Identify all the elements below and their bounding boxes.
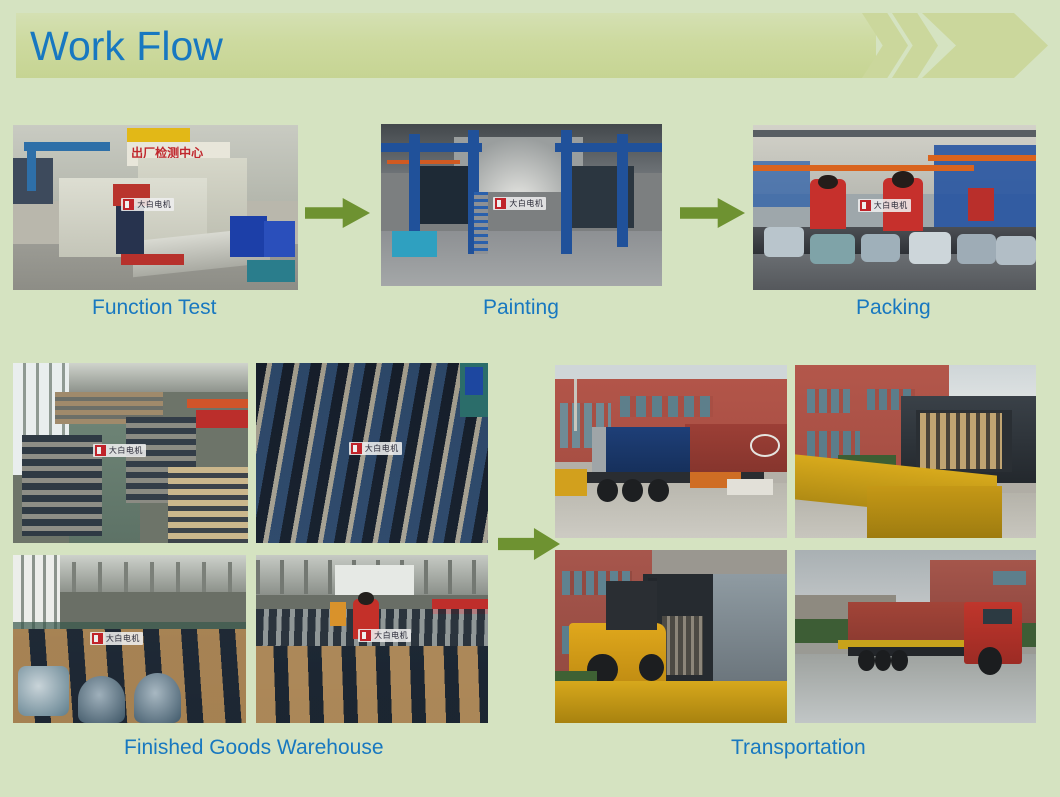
- photo-region-worker-head: [818, 175, 838, 190]
- photo-region-packed-motor: [810, 234, 855, 264]
- photo-motors-closeup: 大白电机: [256, 363, 488, 543]
- photo-region-sky: [555, 365, 787, 379]
- photo-region-wheel: [597, 479, 618, 501]
- photo-region-motor-lot: [168, 467, 248, 543]
- photo-region-ladder: [474, 192, 488, 254]
- watermark-text: 大白电机: [365, 443, 399, 454]
- photo-container-truck: [555, 365, 787, 538]
- header-chevron-group: [862, 13, 1048, 78]
- photo-painting: 大白电机: [381, 124, 662, 286]
- watermark-logo-icon: [351, 443, 362, 454]
- photo-region-column: [617, 134, 628, 247]
- photo-region-wheel: [858, 650, 875, 671]
- photo-region-post: [27, 142, 36, 192]
- photo-region-packed-motor: [957, 234, 997, 264]
- photo-region-wheel: [622, 479, 643, 501]
- photo-region-container-logo: [750, 434, 780, 456]
- photo-region-loading-ramp: [867, 486, 1002, 538]
- photo-region-teal-crate: [247, 260, 295, 281]
- chevron-right-icon: [922, 13, 1048, 78]
- watermark-logo-icon: [860, 200, 871, 211]
- photo-region-windows: [807, 389, 850, 413]
- photo-region-wheel: [648, 479, 669, 501]
- watermark-logo-icon: [495, 198, 506, 209]
- flow-arrow-painting-to-packing: [680, 198, 745, 228]
- watermark-badge: 大白电机: [93, 444, 146, 457]
- photo-region-column: [561, 130, 572, 253]
- watermark-badge: 大白电机: [349, 442, 402, 455]
- caption-finished-goods-warehouse: Finished Goods Warehouse: [124, 735, 384, 761]
- photo-region-worker: [330, 602, 346, 626]
- photo-warehouse-aisle: 大白电机: [13, 363, 248, 543]
- photo-region-loading-ramp: [555, 681, 787, 723]
- watermark-badge: 大白电机: [121, 198, 174, 211]
- photo-region-packed-motor: [996, 236, 1036, 266]
- page-header: Work Flow: [16, 13, 1048, 78]
- photo-region-beam: [381, 143, 482, 151]
- photo-function-test: 出厂检测中心 大白电机: [13, 125, 298, 290]
- photo-region-red-banner: [196, 410, 248, 428]
- photo-region-packed-motor: [764, 227, 804, 257]
- watermark-text: 大白电机: [137, 199, 171, 210]
- watermark-badge: 大白电机: [90, 632, 143, 645]
- photo-region-packed-motor: [861, 234, 901, 262]
- photo-region-packed-motor: [909, 232, 951, 263]
- photo-region-yellow-barrier: [555, 469, 587, 497]
- photo-region-carton-rows: [256, 646, 488, 723]
- photo-region-gantry: [24, 142, 110, 152]
- photo-region-blue-bin: [230, 216, 267, 257]
- photo-region-container-door: [592, 427, 606, 472]
- photo-region-wooden-crates: [920, 413, 1002, 468]
- photo-red-truck: [795, 550, 1036, 723]
- photo-region-white-panel: [727, 479, 773, 495]
- caption-painting: Painting: [483, 295, 559, 321]
- photo-warehouse-worker: 大白电机: [256, 555, 488, 723]
- photo-region-forklift-cab: [606, 581, 657, 629]
- photo-forklift: [555, 550, 787, 723]
- photo-region-blue-container: [592, 427, 689, 472]
- photo-region-skylight: [335, 565, 414, 595]
- photo-region-blue-panel: [465, 367, 484, 396]
- watermark-badge: 大白电机: [858, 199, 911, 212]
- photo-region-motor-lot: [22, 435, 102, 536]
- flow-arrow-warehouse-to-transportation: [498, 528, 560, 560]
- photo-warehouse-crates: 大白电机: [13, 555, 246, 723]
- photo-region-orange-pipe: [387, 160, 460, 165]
- photo-region-beam: [46, 562, 246, 592]
- photo-region-packed-motor: [18, 666, 69, 716]
- photo-region-red-bar: [121, 254, 184, 266]
- photo-region-cyan-bin: [392, 231, 437, 257]
- photo-region-orange-rail: [187, 399, 248, 408]
- photo-region-windows: [620, 396, 713, 417]
- photo-region-blue-bin: [264, 221, 295, 257]
- photo-region-worker: [968, 188, 993, 221]
- flow-arrow-function-test-to-painting: [305, 198, 370, 228]
- watermark-badge: 大白电机: [493, 197, 546, 210]
- watermark-text: 大白电机: [874, 200, 908, 211]
- photo-region-packed-motor: [134, 673, 181, 723]
- photo-region-roof: [46, 363, 248, 392]
- watermark-logo-icon: [95, 445, 106, 456]
- photo-loading-container: [795, 365, 1036, 538]
- photo-region-wheel: [978, 647, 1002, 675]
- watermark-logo-icon: [92, 633, 103, 644]
- photo-region-windows: [993, 571, 1027, 585]
- photo-region-orange-rail: [753, 165, 974, 172]
- watermark-text: 大白电机: [374, 630, 408, 641]
- photo-region-wooden-crates: [662, 616, 704, 675]
- photo-region-light-pole: [574, 379, 577, 431]
- photo-region-orange-rail: [928, 155, 1036, 162]
- watermark-logo-icon: [360, 630, 371, 641]
- photo-region-windshield: [983, 609, 1012, 625]
- photo-region-worker-head: [892, 171, 915, 188]
- photo-region-equipment: [415, 166, 471, 224]
- watermark-logo-icon: [123, 199, 134, 210]
- caption-function-test: Function Test: [92, 295, 217, 321]
- watermark-text: 大白电机: [109, 445, 143, 456]
- photo-packing: 大白电机: [753, 125, 1036, 290]
- watermark-badge: 大白电机: [358, 629, 411, 642]
- watermark-text: 大白电机: [106, 633, 140, 644]
- caption-transportation: Transportation: [731, 735, 866, 761]
- photo-region-packed-motor: [78, 676, 125, 723]
- watermark-text: 大白电机: [509, 198, 543, 209]
- photo-region-beam: [753, 130, 1036, 137]
- page-title: Work Flow: [30, 22, 223, 70]
- caption-packing: Packing: [856, 295, 931, 321]
